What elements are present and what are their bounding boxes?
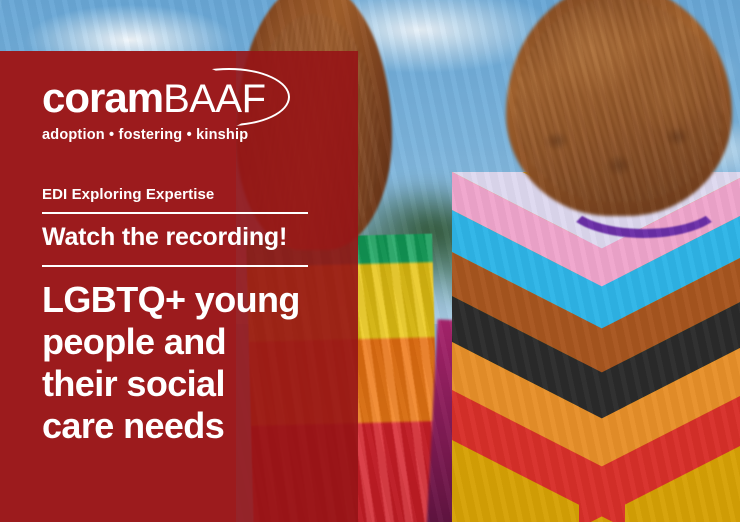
call-to-action-subhead: Watch the recording!: [42, 223, 287, 252]
logo-coram-text: coram: [42, 74, 163, 121]
headline-line: their social: [42, 363, 342, 405]
logo-baaf-text: BAAF: [163, 77, 265, 121]
logo-tagline: adoption • fostering • kinship: [42, 127, 272, 143]
promotional-banner: coramBAAF adoption • fostering • kinship…: [0, 0, 740, 522]
panel-content: coramBAAF adoption • fostering • kinship…: [0, 51, 358, 522]
person-right-hair: [506, 0, 732, 216]
series-label: EDI Exploring Expertise: [42, 186, 214, 203]
logo-wordmark: coramBAAF: [42, 77, 272, 119]
headline-line: LGBTQ+ young: [42, 279, 342, 321]
chevron-red: [452, 478, 740, 522]
divider-bottom: [42, 265, 308, 267]
headline: LGBTQ+ young people and their social car…: [42, 279, 342, 447]
coram-baaf-logo[interactable]: coramBAAF adoption • fostering • kinship: [42, 77, 272, 143]
headline-line: people and: [42, 321, 342, 363]
divider-top: [42, 212, 308, 214]
headline-line: care needs: [42, 405, 342, 447]
